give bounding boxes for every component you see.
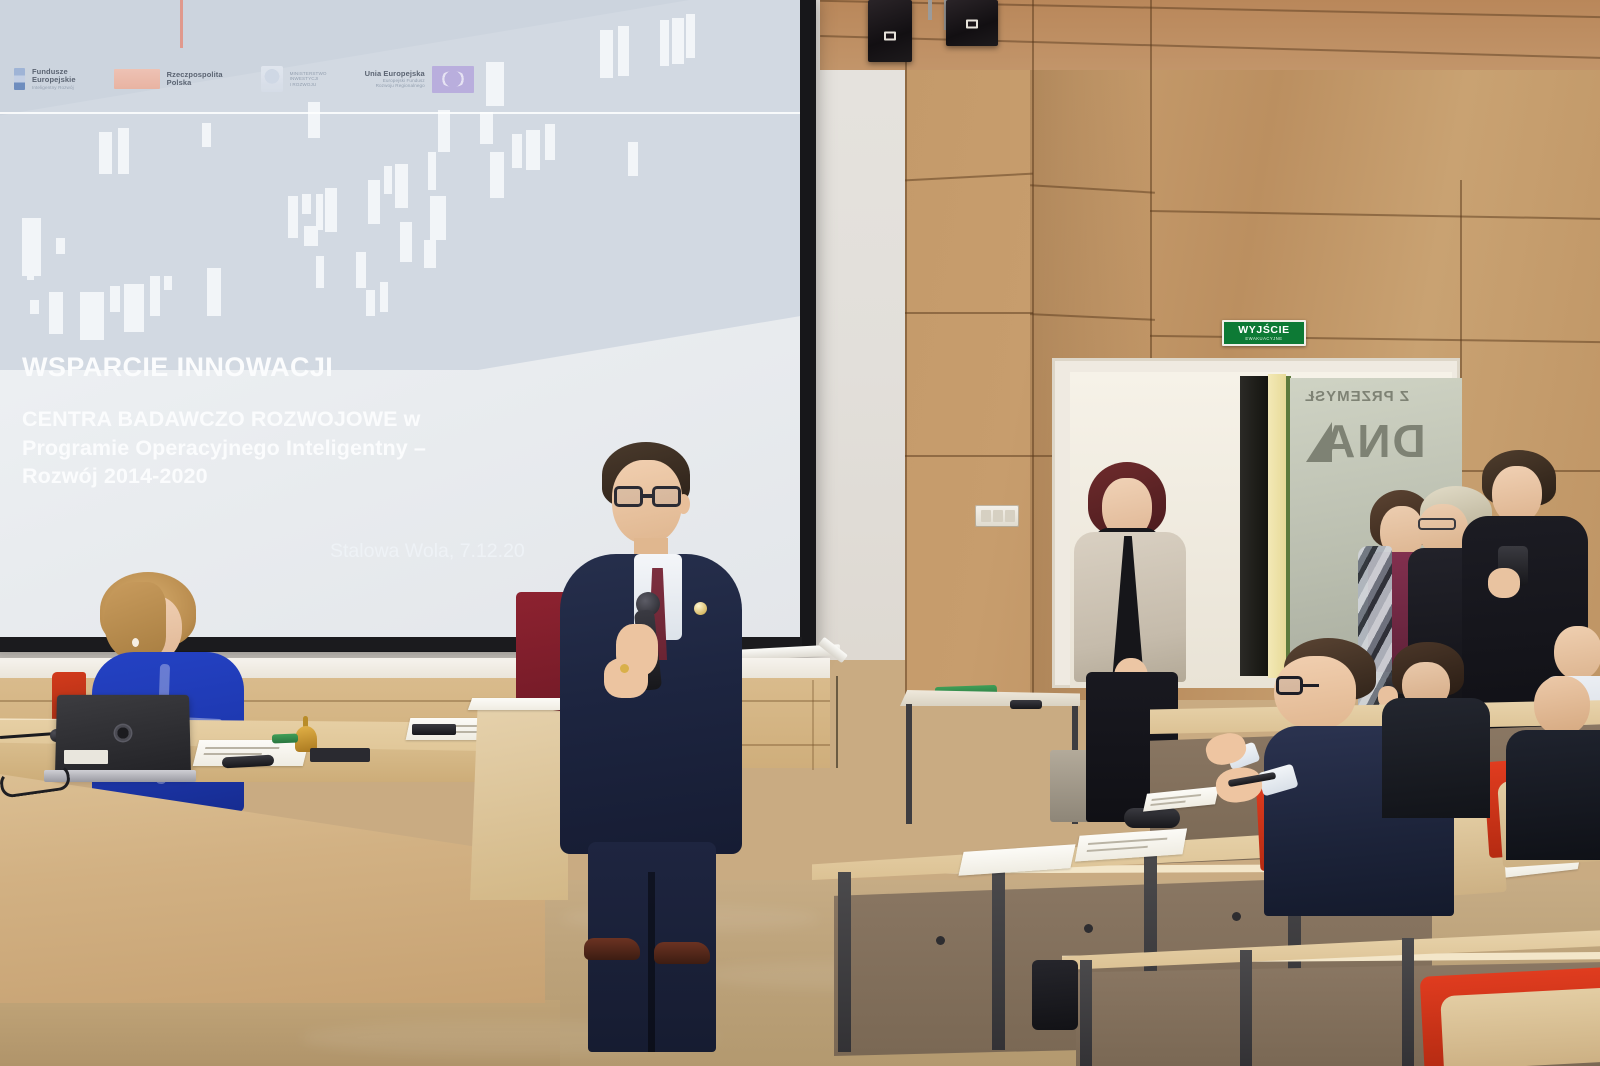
slide-subtitle-line1: CENTRA BADAWCZO ROZWOJOWE w: [22, 405, 582, 434]
logo-unia-europejska: Unia Europejska Europejski Fundusz Rozwo…: [365, 66, 474, 93]
panel-seam: [1032, 0, 1034, 700]
lectern-papers: [468, 698, 568, 710]
ceiling: [820, 0, 1600, 70]
desk-leg: [1080, 960, 1092, 1066]
desk-leg: [1240, 950, 1252, 1066]
jbl-logo-icon: [966, 19, 978, 28]
eyeglass-case: [1124, 808, 1180, 828]
slide-place-date: Stalowa Wola, 7.12.20: [330, 540, 525, 563]
auditorium-photo-scene: Fundusze Europejskie Inteligentny Rozwój…: [0, 0, 1600, 1066]
desk-fastener: [936, 936, 945, 945]
laptop-sticker: [64, 750, 108, 764]
logo-line3: Rozwoju Regionalnego: [365, 83, 425, 88]
eyeglasses-icon: [1418, 518, 1456, 530]
shoe-right: [654, 942, 710, 964]
door-glass-text-top: Z PRZEMYSŁ: [1304, 388, 1409, 405]
logo-line1: Unia Europejska: [365, 70, 425, 78]
door-shadow-gap: [1240, 376, 1268, 676]
dark-jacket: [1382, 698, 1490, 818]
slide-accent-bar: [180, 0, 183, 48]
slide-text-block: WSPARCIE INNOWACJI CENTRA BADAWCZO ROZWO…: [22, 352, 582, 491]
fe-bars-icon: [14, 68, 25, 90]
lapel-pin-icon: [694, 602, 707, 615]
logo-rzeczpospolita-polska: Rzeczpospolita Polska: [114, 69, 223, 89]
panel-seam: [905, 312, 1033, 314]
hand: [1488, 568, 1520, 598]
remote-control: [1010, 700, 1042, 709]
jbl-speaker-right: [946, 0, 998, 46]
dark-mat: [310, 748, 370, 762]
desk-fastener: [1232, 912, 1241, 921]
presidium-table-front: [0, 768, 545, 1003]
jbl-logo-icon: [884, 31, 896, 40]
person-speaker-man: [582, 442, 782, 1002]
hair-side: [104, 582, 166, 660]
jbl-speaker-left: [868, 0, 912, 62]
face: [1534, 676, 1590, 736]
rp-flag-icon: [114, 69, 160, 89]
socket-outlet: [1005, 510, 1015, 522]
shoe-left: [584, 938, 640, 960]
door-jamb: [1268, 374, 1286, 678]
eu-funding-logo-strip: Fundusze Europejskie Inteligentny Rozwój…: [0, 48, 800, 110]
panel-seam: [905, 455, 1055, 457]
speaker-bracket: [928, 0, 932, 20]
socket-outlet: [993, 510, 1003, 522]
panel-seam: [905, 0, 907, 700]
desk-leg: [992, 864, 1005, 1050]
logo-line3: Inteligentny Rozwój: [32, 85, 76, 90]
exit-sign-label: WYJŚCIE: [1238, 325, 1289, 336]
hanging-cable: [836, 676, 838, 768]
eu-stars-icon: [432, 66, 474, 93]
slide-subtitle-line2: Programie Operacyjnego Inteligentny –: [22, 434, 582, 463]
slide-divider: [0, 112, 800, 114]
ring: [620, 664, 629, 673]
dark-suit: [1506, 730, 1600, 860]
face: [1554, 626, 1600, 680]
tablet-device[interactable]: [412, 724, 456, 735]
person-partial-behind: [1388, 642, 1498, 802]
dado-seam: [812, 680, 814, 770]
person-partial-bottom-right: [1516, 676, 1600, 856]
logo-line3: I ROZWOJU: [290, 82, 327, 87]
logo-line2: Polska: [167, 79, 223, 87]
lectern: [470, 700, 568, 900]
logo-line2: Europejskie: [32, 76, 76, 84]
logo-fundusze-europejskie: Fundusze Europejskie Inteligentny Rozwój: [14, 68, 76, 90]
bag-under-desk: [1032, 960, 1078, 1030]
earring: [132, 638, 139, 647]
trouser-gap: [648, 872, 655, 1052]
logo-ministerstwo: MINISTERSTWO INWESTYCJI I ROZWOJU: [261, 66, 327, 92]
socket-outlet: [981, 510, 991, 522]
eagle-icon: [261, 66, 283, 92]
emergency-exit-sign: WYJŚCIE EWAKUACYJNE: [1222, 320, 1306, 346]
dell-logo-icon: [113, 724, 132, 743]
green-marker: [272, 734, 298, 744]
desk-leg: [1402, 938, 1414, 1066]
auditorium-seat-back-front[interactable]: [1440, 988, 1600, 1066]
dell-laptop-lid[interactable]: [55, 695, 191, 777]
desk-leg: [838, 872, 851, 1052]
slide-title: WSPARCIE INNOWACJI: [22, 352, 582, 383]
power-socket-plate[interactable]: [975, 505, 1019, 527]
door-glass-text-main: DNA: [1320, 414, 1426, 468]
exit-sign-sublabel: EWAKUACYJNE: [1245, 337, 1282, 341]
slide-subtitle-line3: Rozwój 2014-2020: [22, 462, 582, 491]
